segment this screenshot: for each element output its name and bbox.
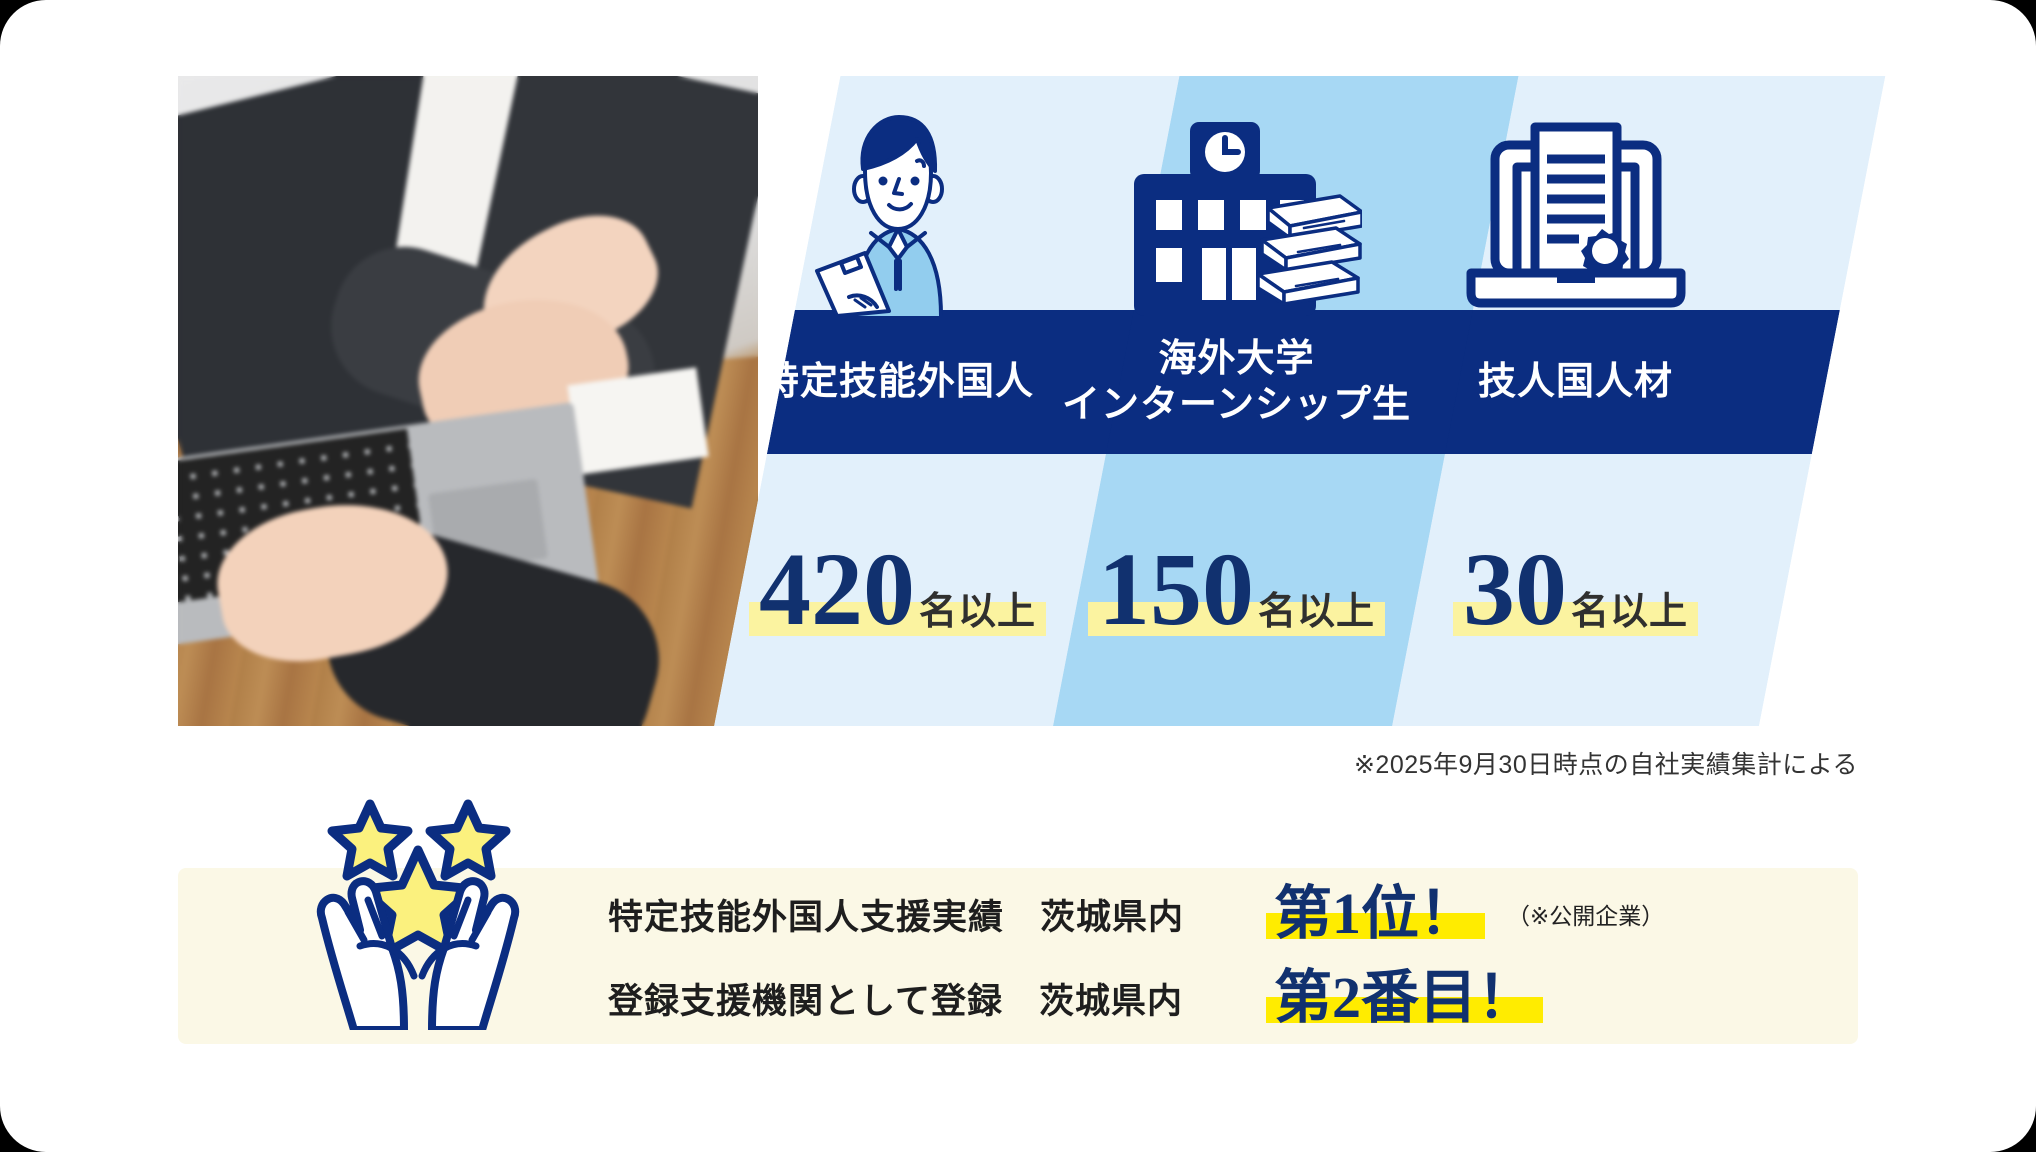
panel-title-line: 技人国人材 xyxy=(1478,359,1673,405)
ranking-badge: 第2番目！ xyxy=(1266,969,1543,1027)
ranking-rows: 特定技能外国人支援実績 茨城県内 第1位！ （※公開企業） 登録支援機関として登… xyxy=(608,868,1838,1044)
ranking-label: 登録支援機関として登録 茨城県内 xyxy=(608,973,1248,1024)
panel-title: 海外大学 インターンシップ生 xyxy=(1053,310,1420,454)
panel-value-block: 150 名以上 xyxy=(1053,454,1420,726)
hands-with-stars-icon xyxy=(308,790,528,1030)
business-meeting-photo xyxy=(178,76,758,726)
ranking-row: 登録支援機関として登録 茨城県内 第2番目！ xyxy=(608,969,1838,1027)
ranking-badge-text: 第2番目！ xyxy=(1274,965,1535,1030)
ranking-badge: 第1位！ xyxy=(1266,885,1485,943)
panel-title: 特定技能外国人 xyxy=(714,310,1081,454)
stat-panel-tokutei: 特定技能外国人 420 名以上 xyxy=(714,76,1081,726)
ranking-row: 特定技能外国人支援実績 茨城県内 第1位！ （※公開企業） xyxy=(608,885,1838,943)
panel-title-line: 特定技能外国人 xyxy=(761,359,1034,405)
value-highlight: 420 名以上 xyxy=(755,538,1040,642)
stat-panel-gijinkoku: 技人国人材 30 名以上 xyxy=(1392,76,1759,726)
ranking-label: 特定技能外国人支援実績 茨城県内 xyxy=(608,889,1248,940)
panel-title-line-1: 海外大学 xyxy=(1158,338,1314,380)
panel-unit: 名以上 xyxy=(919,580,1036,635)
panel-value: 30 xyxy=(1463,538,1567,642)
panel-unit: 名以上 xyxy=(1258,580,1375,635)
panel-value-block: 30 名以上 xyxy=(1392,454,1759,726)
stat-panel-intern: 海外大学 インターンシップ生 150 名以上 xyxy=(1053,76,1420,726)
panel-value: 420 xyxy=(759,538,915,642)
panel-value: 150 xyxy=(1098,538,1254,642)
panel-top-bg xyxy=(1473,76,1885,310)
ranking-badge-text: 第1位！ xyxy=(1274,881,1477,946)
photo-blur-overlay xyxy=(178,76,758,726)
panel-value-block: 420 名以上 xyxy=(714,454,1081,726)
panel-title: 技人国人材 xyxy=(1392,310,1759,454)
stats-footnote: ※2025年9月30日時点の自社実績集計による xyxy=(1354,745,1858,781)
panel-title-line-2: インターンシップ生 xyxy=(1062,384,1411,426)
ranking-box: 特定技能外国人支援実績 茨城県内 第1位！ （※公開企業） 登録支援機関として登… xyxy=(178,868,1858,1044)
stats-strip: 特定技能外国人 420 名以上 xyxy=(178,76,1858,726)
panel-title-text: 海外大学 インターンシップ生 xyxy=(1062,336,1411,429)
value-highlight: 150 名以上 xyxy=(1094,538,1379,642)
panel-unit: 名以上 xyxy=(1571,580,1688,635)
promo-card: 特定技能外国人 420 名以上 xyxy=(0,0,2036,1152)
ranking-note: （※公開企業） xyxy=(1507,897,1664,931)
value-highlight: 30 名以上 xyxy=(1459,538,1692,642)
